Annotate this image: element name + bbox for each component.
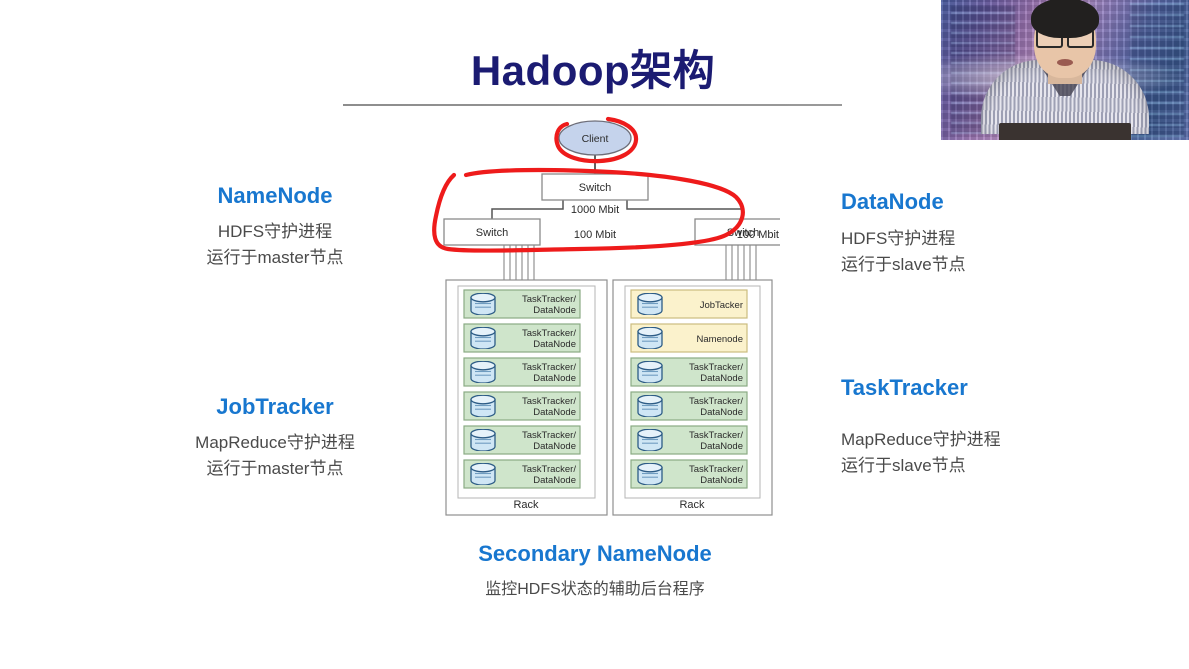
- label-datanode-line1: HDFS守护进程: [841, 226, 966, 252]
- label-tasktracker-line2: 运行于slave节点: [841, 453, 1001, 479]
- core-switch-node: Switch: [542, 174, 648, 200]
- label-tasktracker-line1: MapReduce守护进程: [841, 427, 1001, 453]
- rack-left-label: Rack: [513, 499, 539, 511]
- label-jobtracker-line2: 运行于master节点: [115, 456, 435, 482]
- svg-text:DataNode: DataNode: [533, 475, 576, 486]
- svg-text:TaskTracker/: TaskTracker/: [522, 464, 576, 475]
- svg-text:TaskTracker/: TaskTracker/: [522, 396, 576, 407]
- label-namenode-heading: NameNode: [130, 183, 420, 209]
- rack-right-node-6: TaskTracker/ DataNode: [631, 460, 747, 488]
- svg-text:JobTacker: JobTacker: [700, 300, 743, 311]
- rack-right-node-2: Namenode: [631, 324, 747, 352]
- label-namenode-line2: 运行于master节点: [130, 245, 420, 271]
- rack-right-label: Rack: [679, 499, 705, 511]
- rack-left-node-6: TaskTracker/ DataNode: [464, 460, 580, 488]
- svg-text:DataNode: DataNode: [533, 305, 576, 316]
- svg-text:TaskTracker/: TaskTracker/: [689, 464, 743, 475]
- rack-left-node-4: TaskTracker/ DataNode: [464, 392, 580, 420]
- rack-right-node-5: TaskTracker/ DataNode: [631, 426, 747, 454]
- left-switch-label: Switch: [476, 227, 508, 239]
- label-jobtracker-heading: JobTracker: [115, 394, 435, 420]
- right-downlink-speed-label: 100 Mbit: [737, 229, 779, 241]
- presenter-laptop: [999, 123, 1131, 140]
- svg-text:DataNode: DataNode: [533, 339, 576, 350]
- label-tasktracker-heading: TaskTracker: [841, 375, 968, 401]
- svg-text:TaskTracker/: TaskTracker/: [689, 362, 743, 373]
- svg-text:TaskTracker/: TaskTracker/: [522, 430, 576, 441]
- rack-left-node-1: TaskTracker/ DataNode: [464, 290, 580, 318]
- presenter-mouth: [1057, 59, 1073, 66]
- svg-text:TaskTracker/: TaskTracker/: [689, 430, 743, 441]
- label-tasktracker-body: MapReduce守护进程 运行于slave节点: [841, 427, 1001, 480]
- label-jobtracker-line1: MapReduce守护进程: [115, 430, 435, 456]
- svg-text:DataNode: DataNode: [533, 407, 576, 418]
- svg-text:TaskTracker/: TaskTracker/: [522, 328, 576, 339]
- left-downlink-speed-label: 100 Mbit: [574, 229, 616, 241]
- client-label: Client: [582, 133, 609, 145]
- svg-text:DataNode: DataNode: [700, 373, 743, 384]
- rack-right: JobTacker Namenode TaskTracker/ DataNode: [613, 280, 772, 515]
- svg-text:TaskTracker/: TaskTracker/: [522, 294, 576, 305]
- label-datanode-line2: 运行于slave节点: [841, 252, 966, 278]
- client-node: Client: [559, 121, 631, 155]
- core-switch-label: Switch: [579, 182, 611, 194]
- label-namenode-body: HDFS守护进程 运行于master节点: [130, 219, 420, 272]
- title-divider: [343, 104, 842, 106]
- page-title: Hadoop架构: [343, 48, 843, 94]
- rack-left-node-2: TaskTracker/ DataNode: [464, 324, 580, 352]
- label-namenode-line1: HDFS守护进程: [130, 219, 420, 245]
- presenter-hair: [1031, 0, 1099, 38]
- svg-text:DataNode: DataNode: [700, 475, 743, 486]
- svg-text:DataNode: DataNode: [533, 441, 576, 452]
- rack-left-node-3: TaskTracker/ DataNode: [464, 358, 580, 386]
- label-datanode-body: HDFS守护进程 运行于slave节点: [841, 226, 966, 279]
- rack-left: TaskTracker/ DataNode TaskTracker/ DataN…: [446, 280, 607, 515]
- label-datanode-heading: DataNode: [841, 189, 944, 215]
- svg-text:Namenode: Namenode: [697, 334, 743, 345]
- svg-text:TaskTracker/: TaskTracker/: [522, 362, 576, 373]
- label-secondary-namenode-heading: Secondary NameNode: [395, 541, 795, 567]
- rack-right-node-4: TaskTracker/ DataNode: [631, 392, 747, 420]
- label-jobtracker-body: MapReduce守护进程 运行于master节点: [115, 430, 435, 483]
- left-switch-node: Switch: [444, 219, 540, 245]
- svg-text:TaskTracker/: TaskTracker/: [689, 396, 743, 407]
- hadoop-architecture-diagram: TaskTracker/ DataNode TaskTracker/ DataN…: [430, 112, 780, 527]
- svg-text:DataNode: DataNode: [533, 373, 576, 384]
- rack-left-node-5: TaskTracker/ DataNode: [464, 426, 580, 454]
- label-secondary-namenode-body: 监控HDFS状态的辅助后台程序: [395, 578, 795, 603]
- svg-text:DataNode: DataNode: [700, 407, 743, 418]
- presenter-video-overlay: [941, 0, 1189, 140]
- uplink-speed-label: 1000 Mbit: [571, 204, 619, 216]
- rack-right-node-1: JobTacker: [631, 290, 747, 318]
- svg-text:DataNode: DataNode: [700, 441, 743, 452]
- rack-right-node-3: TaskTracker/ DataNode: [631, 358, 747, 386]
